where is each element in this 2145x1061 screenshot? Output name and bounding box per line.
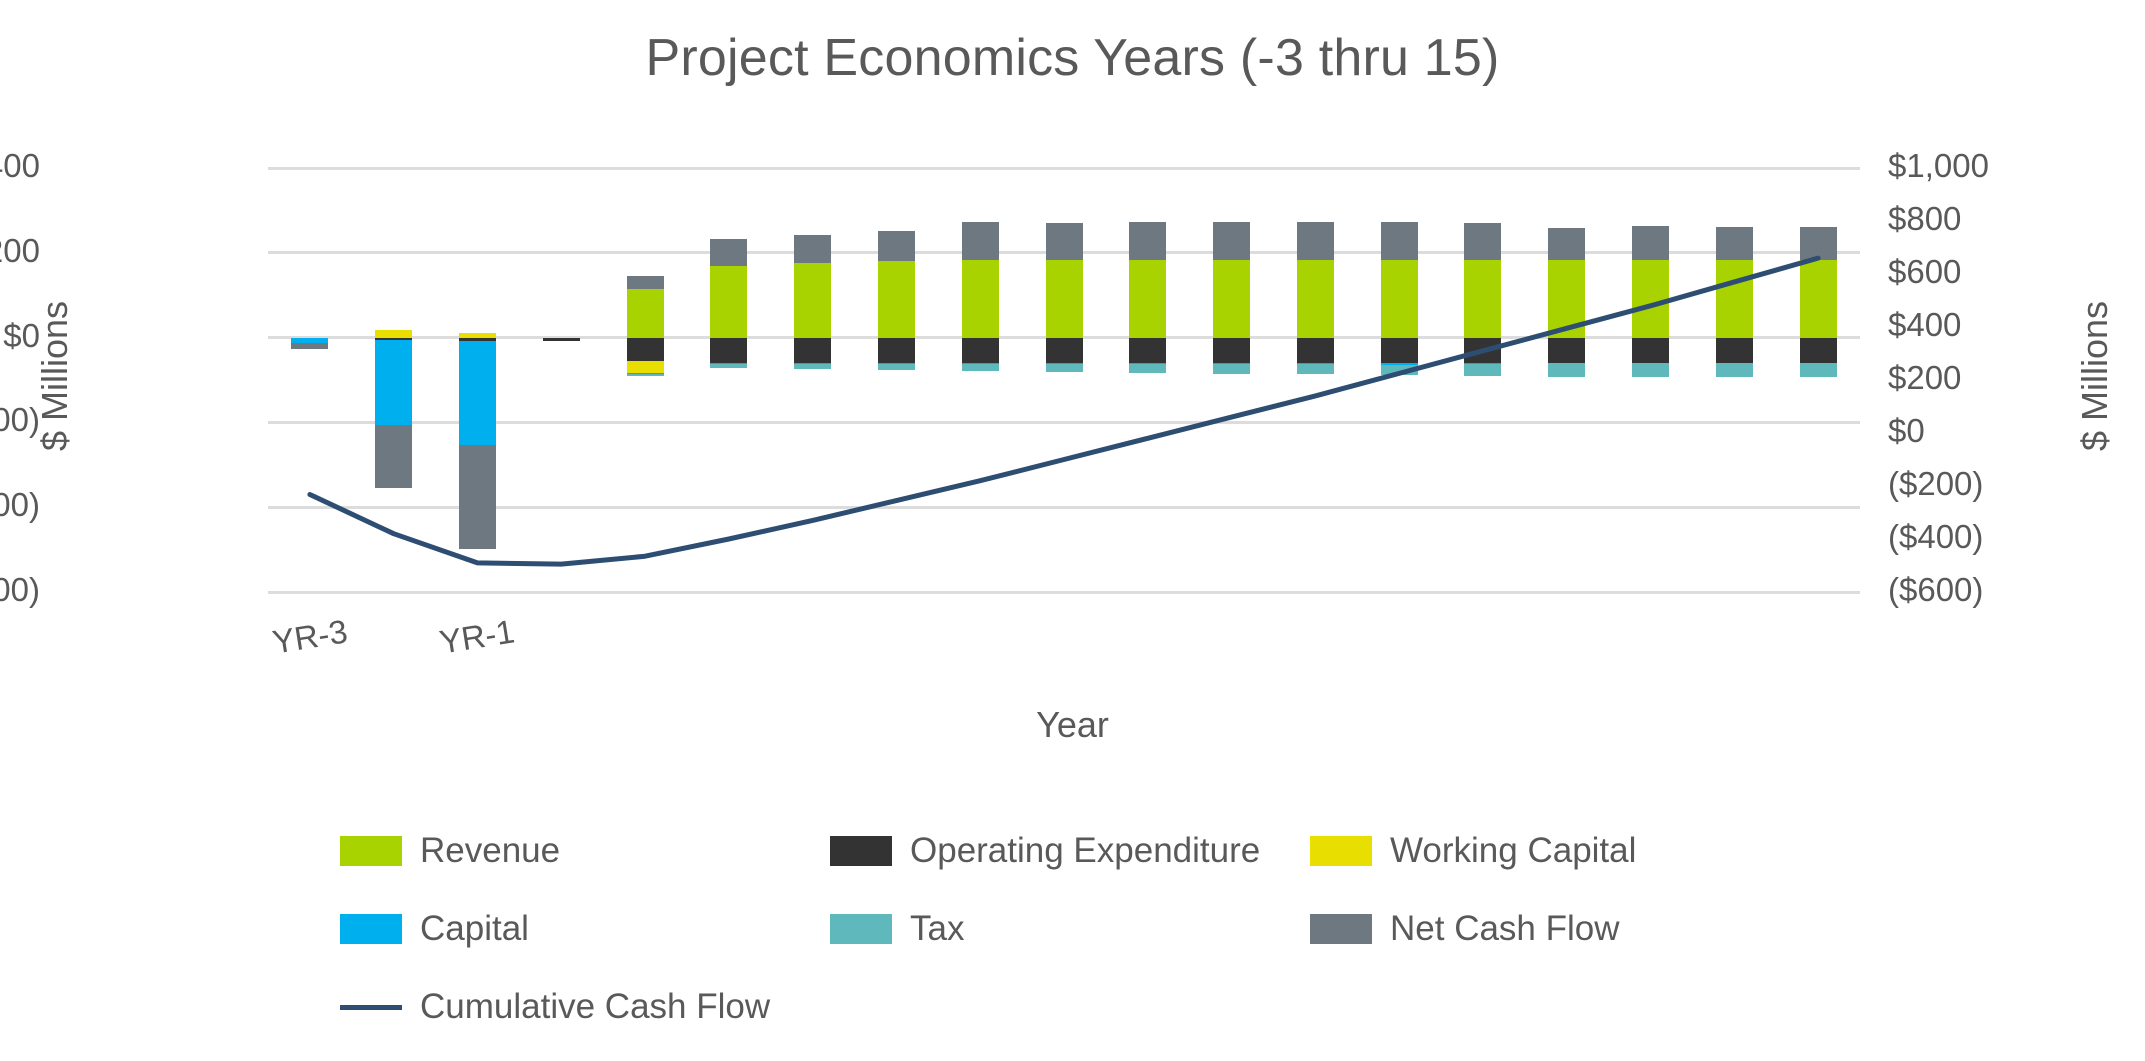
bar-segment[interactable]	[1213, 338, 1250, 363]
legend-item[interactable]: Capital	[340, 909, 830, 949]
bar-segment[interactable]	[962, 222, 999, 260]
legend-color-swatch-icon	[340, 914, 402, 944]
bar-segment[interactable]	[1464, 260, 1501, 338]
bar-segment[interactable]	[1800, 260, 1837, 338]
bar-segment[interactable]	[794, 364, 831, 369]
x-axis-ticks: YR-3YR-1	[268, 618, 1860, 688]
legend-label: Net Cash Flow	[1390, 909, 1620, 949]
bar-group[interactable]	[627, 168, 664, 592]
y-axis-left-tick-label: $200	[0, 234, 40, 267]
bar-segment[interactable]	[1381, 260, 1418, 338]
bar-segment[interactable]	[878, 364, 915, 370]
bar-segment[interactable]	[627, 276, 664, 289]
bar-group[interactable]	[1716, 168, 1753, 592]
bar-segment[interactable]	[1632, 260, 1669, 338]
bar-segment[interactable]	[1800, 227, 1837, 260]
y-axis-left-tick-label: ($200)	[0, 403, 40, 436]
bar-group[interactable]	[1046, 168, 1083, 592]
bar-segment[interactable]	[1046, 260, 1083, 338]
y-axis-right-tick-label: $600	[1888, 255, 1961, 288]
bar-segment[interactable]	[1046, 223, 1083, 260]
legend-item[interactable]: Operating Expenditure	[830, 831, 1310, 871]
bar-group[interactable]	[1129, 168, 1166, 592]
bar-segment[interactable]	[1548, 260, 1585, 338]
bar-group[interactable]	[1297, 168, 1334, 592]
bar-segment[interactable]	[962, 338, 999, 363]
legend-label: Capital	[420, 909, 529, 949]
bar-group[interactable]	[1632, 168, 1669, 592]
legend-item[interactable]: Working Capital	[1310, 831, 1740, 871]
bar-segment[interactable]	[375, 330, 412, 338]
bar-segment[interactable]	[1213, 222, 1250, 260]
bar-segment[interactable]	[1129, 364, 1166, 372]
bar-group[interactable]	[794, 168, 831, 592]
y-axis-right-tick-label: $400	[1888, 308, 1961, 341]
legend-color-swatch-icon	[830, 914, 892, 944]
bar-segment[interactable]	[1800, 338, 1837, 363]
legend-color-swatch-icon	[1310, 836, 1372, 866]
bar-segment[interactable]	[710, 239, 747, 265]
legend-label: Revenue	[420, 831, 560, 871]
y-axis-left-tick-label: ($400)	[0, 488, 40, 521]
bar-segment[interactable]	[375, 340, 412, 425]
plot-area	[268, 168, 1860, 592]
y-axis-right-tick-label: $0	[1888, 414, 1925, 447]
bar-segment[interactable]	[1381, 338, 1418, 363]
bar-segment[interactable]	[1716, 363, 1753, 377]
bar-group[interactable]	[962, 168, 999, 592]
bar-segment[interactable]	[1381, 222, 1418, 260]
bar-segment[interactable]	[1297, 260, 1334, 338]
legend-item[interactable]: Tax	[830, 909, 1310, 949]
bar-segment[interactable]	[291, 343, 328, 350]
bar-segment[interactable]	[1800, 363, 1837, 377]
bar-segment[interactable]	[1297, 364, 1334, 374]
legend-color-swatch-icon	[340, 836, 402, 866]
bar-segment[interactable]	[1632, 226, 1669, 260]
bar-segment[interactable]	[1297, 338, 1334, 363]
bar-segment[interactable]	[627, 338, 664, 361]
legend-label: Operating Expenditure	[910, 831, 1260, 871]
legend-label: Working Capital	[1390, 831, 1636, 871]
legend-line-icon	[340, 1005, 402, 1010]
bar-segment[interactable]	[1632, 363, 1669, 377]
bar-segment[interactable]	[1129, 260, 1166, 338]
bar-group[interactable]	[291, 168, 328, 592]
bar-segment[interactable]	[710, 338, 747, 363]
bar-group[interactable]	[543, 168, 580, 592]
bar-group[interactable]	[375, 168, 412, 592]
bar-segment[interactable]	[1716, 227, 1753, 260]
y-axis-right-tick-label: $200	[1888, 361, 1961, 394]
legend-row: RevenueOperating ExpenditureWorking Capi…	[340, 812, 1740, 890]
bar-group[interactable]	[1213, 168, 1250, 592]
y-axis-right-tick-label: $800	[1888, 202, 1961, 235]
bar-segment[interactable]	[459, 445, 496, 549]
bar-group[interactable]	[1548, 168, 1585, 592]
bar-group[interactable]	[459, 168, 496, 592]
bar-segment[interactable]	[543, 338, 580, 341]
y-axis-left-tick-label: $0	[3, 319, 40, 352]
bar-segment[interactable]	[1213, 364, 1250, 373]
bar-segment[interactable]	[627, 289, 664, 338]
x-axis-title: Year	[0, 704, 2145, 746]
legend-row: CapitalTaxNet Cash Flow	[340, 890, 1740, 968]
bar-segment[interactable]	[794, 235, 831, 264]
x-axis-tick-label: YR-1	[437, 612, 517, 661]
bar-segment[interactable]	[1129, 222, 1166, 260]
bar-segment[interactable]	[627, 361, 664, 373]
bar-group[interactable]	[1381, 168, 1418, 592]
bar-segment[interactable]	[459, 341, 496, 445]
bar-segment[interactable]	[794, 263, 831, 337]
bar-segment[interactable]	[962, 364, 999, 371]
bar-segment[interactable]	[1548, 228, 1585, 260]
bar-segment[interactable]	[962, 260, 999, 338]
bar-segment[interactable]	[627, 374, 664, 376]
legend-color-swatch-icon	[1310, 914, 1372, 944]
bar-group[interactable]	[878, 168, 915, 592]
bar-segment[interactable]	[878, 338, 915, 363]
y-axis-right-tick-label: ($600)	[1888, 573, 1983, 606]
legend-label: Tax	[910, 909, 964, 949]
bar-segment[interactable]	[1046, 364, 1083, 372]
y-axis-right-tick-label: ($400)	[1888, 520, 1983, 553]
legend-color-swatch-icon	[830, 836, 892, 866]
legend-item[interactable]: Cumulative Cash Flow	[340, 987, 830, 1027]
bar-segment[interactable]	[1297, 222, 1334, 260]
bar-segment[interactable]	[710, 266, 747, 338]
bar-segment[interactable]	[1548, 338, 1585, 363]
bar-segment[interactable]	[375, 425, 412, 489]
y-axis-left-tick-label: $400	[0, 149, 40, 182]
bar-group[interactable]	[710, 168, 747, 592]
bar-segment[interactable]	[1129, 338, 1166, 363]
bar-segment[interactable]	[878, 261, 915, 337]
y-axis-right-tick-label: $1,000	[1888, 149, 1989, 182]
y-axis-right-title: $ Millions	[2074, 246, 2116, 506]
bar-group[interactable]	[1800, 168, 1837, 592]
chart-legend: RevenueOperating ExpenditureWorking Capi…	[340, 812, 1740, 1046]
y-axis-left-tick-label: ($600)	[0, 573, 40, 606]
bar-segment[interactable]	[1464, 338, 1501, 363]
y-axis-left-title: $ Millions	[34, 246, 76, 506]
bar-segment[interactable]	[1632, 338, 1669, 363]
bar-segment[interactable]	[1716, 260, 1753, 338]
bar-segment[interactable]	[1464, 364, 1501, 376]
bar-group[interactable]	[1464, 168, 1501, 592]
bar-segment[interactable]	[794, 338, 831, 363]
bar-segment[interactable]	[1548, 363, 1585, 377]
legend-item[interactable]: Revenue	[340, 831, 830, 871]
legend-item[interactable]: Net Cash Flow	[1310, 909, 1740, 949]
bar-segment[interactable]	[878, 231, 915, 262]
chart-title: Project Economics Years (-3 thru 15)	[0, 28, 2145, 88]
bar-segment[interactable]	[1464, 223, 1501, 260]
bar-segment[interactable]	[710, 364, 747, 367]
bar-segment[interactable]	[1213, 260, 1250, 338]
y-axis-right-tick-label: ($200)	[1888, 467, 1983, 500]
legend-row: Cumulative Cash Flow	[340, 968, 1740, 1046]
bar-segment[interactable]	[1716, 338, 1753, 363]
bar-segment[interactable]	[1046, 338, 1083, 363]
bar-segment[interactable]	[1381, 365, 1418, 375]
legend-label: Cumulative Cash Flow	[420, 987, 770, 1027]
x-axis-tick-label: YR-3	[270, 612, 350, 661]
